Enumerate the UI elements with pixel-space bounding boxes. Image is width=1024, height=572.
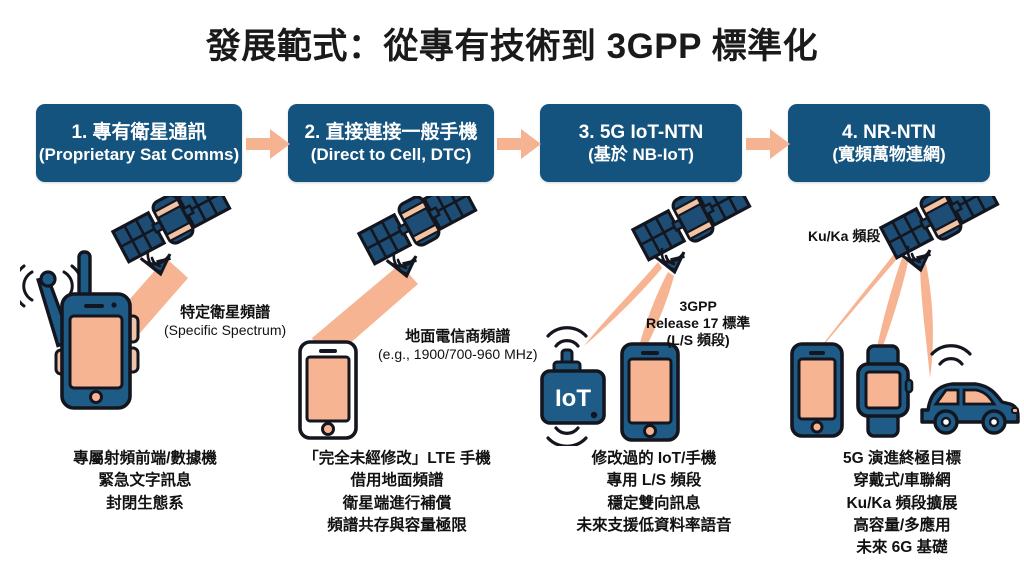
- satellite-icon: [630, 196, 752, 265]
- stage-3-note-line2: Release 17 標準: [646, 315, 750, 332]
- beam-shape: [920, 262, 933, 378]
- stage-2-spectrum-note: 地面電信商頻譜 (e.g., 1900/700-960 MHz): [378, 328, 538, 363]
- stage-box-4[interactable]: 4. NR-NTN (寬頻萬物連網): [788, 104, 990, 182]
- stage-1-caption: 專屬射頻前端/數據機 緊急文字訊息 封閉生態系: [20, 448, 270, 515]
- stage-3-title-en: (基於 NB-IoT): [588, 144, 694, 165]
- stage-4-illustration: Ku/Ka 頻段: [780, 196, 1024, 446]
- stage-4-band-note: Ku/Ka 頻段: [808, 228, 880, 245]
- satellite-phone-scene: [282, 196, 522, 446]
- iot-device-label: IoT: [555, 385, 591, 412]
- caption-line: 「完全未經修改」LTE 手機: [272, 448, 522, 470]
- caption-line: 專屬射頻前端/數據機: [20, 448, 270, 470]
- satellite-icon: [356, 196, 478, 269]
- stage-2-title-en: (Direct to Cell, DTC): [311, 144, 472, 165]
- stage-2-note-cn: 地面電信商頻譜: [378, 328, 538, 346]
- satellite-phone-icon: [20, 252, 138, 408]
- iot-device-icon: IoT: [542, 328, 604, 446]
- caption-line: 借用地面頻譜: [272, 470, 522, 492]
- stage-3-note-line1: 3GPP: [646, 298, 750, 315]
- caption-line: 修改過的 IoT/手機: [524, 448, 784, 470]
- stage-3-standard-note: 3GPP Release 17 標準 (L/S 頻段): [646, 298, 750, 349]
- stage-3-caption: 修改過的 IoT/手機 專用 L/S 頻段 穩定雙向訊息 未來支援低資料率語音: [524, 448, 784, 537]
- stage-2-illustration: 地面電信商頻譜 (e.g., 1900/700-960 MHz): [282, 196, 522, 446]
- satellite-icon: [878, 196, 1000, 263]
- caption-line: 專用 L/S 頻段: [524, 470, 784, 492]
- caption-line: 未來 6G 基礎: [780, 537, 1024, 559]
- caption-line: 衛星端進行補償: [272, 493, 522, 515]
- caption-line: 封閉生態系: [20, 493, 270, 515]
- page-title: 發展範式：從專有技術到 3GPP 標準化: [0, 18, 1024, 69]
- stage-4-title-cn: 4. NR-NTN: [842, 121, 936, 145]
- stage-box-2[interactable]: 2. 直接連接一般手機 (Direct to Cell, DTC): [288, 104, 494, 182]
- stage-3-note-line3: (L/S 頻段): [646, 332, 750, 349]
- smartwatch-icon: [858, 346, 912, 436]
- stage-1-title-en: (Proprietary Sat Comms): [39, 144, 239, 165]
- caption-line: 緊急文字訊息: [20, 470, 270, 492]
- stage-2-title-cn: 2. 直接連接一般手機: [304, 121, 477, 145]
- caption-line: 高容量/多應用: [780, 515, 1024, 537]
- stage-2-caption: 「完全未經修改」LTE 手機 借用地面頻譜 衛星端進行補償 頻譜共存與容量極限: [272, 448, 522, 537]
- smartphone-icon: [792, 344, 842, 436]
- smartphone-icon: [300, 342, 356, 438]
- connected-car-icon: [922, 346, 1018, 433]
- caption-line: 頻譜共存與容量極限: [272, 515, 522, 537]
- stage-box-1[interactable]: 1. 專有衛星通訊 (Proprietary Sat Comms): [36, 104, 242, 182]
- stage-4-note-cn: Ku/Ka 頻段: [808, 228, 880, 245]
- right-arrow-icon: [746, 129, 790, 159]
- caption-line: Ku/Ka 頻段擴展: [780, 493, 1024, 515]
- stage-1-title-cn: 1. 專有衛星通訊: [71, 121, 206, 145]
- stage-1-note-cn: 特定衛星頻譜: [164, 304, 286, 322]
- caption-line: 5G 演進終極目標: [780, 448, 1024, 470]
- smartphone-icon: [622, 344, 678, 440]
- stage-3-illustration: IoT 3GPP Release 17 標準 (L/S 頻段): [534, 196, 784, 446]
- satellite-icon: [110, 196, 232, 267]
- infographic-canvas: 發展範式：從專有技術到 3GPP 標準化 1. 專有衛星通訊 (Propriet…: [0, 0, 1024, 572]
- stage-1-spectrum-note: 特定衛星頻譜 (Specific Spectrum): [164, 304, 286, 339]
- stage-box-3[interactable]: 3. 5G IoT-NTN (基於 NB-IoT): [540, 104, 742, 182]
- stage-4-caption: 5G 演進終極目標 穿戴式/車聯網 Ku/Ka 頻段擴展 高容量/多應用 未來 …: [780, 448, 1024, 560]
- caption-line: 未來支援低資料率語音: [524, 515, 784, 537]
- caption-line: 穩定雙向訊息: [524, 493, 784, 515]
- right-arrow-icon: [246, 129, 290, 159]
- stage-4-title-en: (寬頻萬物連網): [832, 144, 945, 165]
- stage-1-illustration: 特定衛星頻譜 (Specific Spectrum): [20, 196, 270, 446]
- caption-line: 穿戴式/車聯網: [780, 470, 1024, 492]
- right-arrow-icon: [497, 129, 541, 159]
- stage-1-note-en: (Specific Spectrum): [164, 322, 286, 339]
- stage-3-title-cn: 3. 5G IoT-NTN: [579, 121, 704, 145]
- beam-shape: [814, 254, 898, 356]
- stage-2-note-en: (e.g., 1900/700-960 MHz): [378, 346, 538, 363]
- signal-waves-icon: [932, 346, 970, 364]
